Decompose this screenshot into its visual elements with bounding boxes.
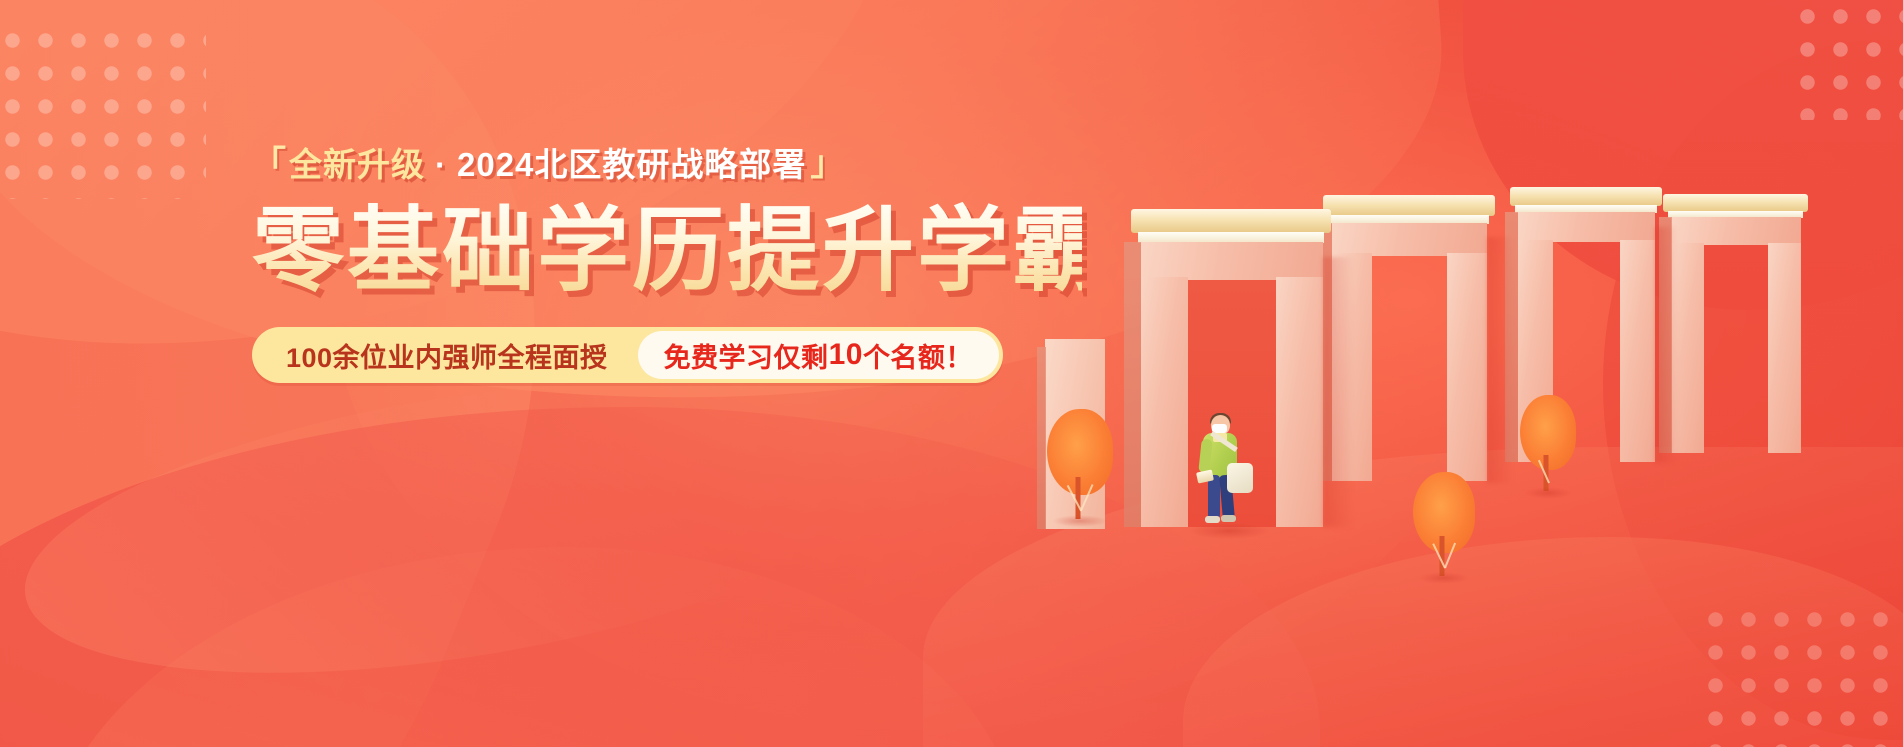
banner-highlight-pill: 100余位业内强师全程面授 免费学习仅剩 10 个名额！ [252, 327, 1003, 383]
pill-quota-badge: 免费学习仅剩 10 个名额！ [638, 331, 999, 379]
tree-shadow-far-right [1524, 487, 1571, 499]
banner-kicker: 「 全新升级 · 2024北区教研战略部署 」 [252, 140, 1082, 188]
tree-icon-left [1047, 409, 1113, 519]
dot-grid-icon-top-left [0, 24, 206, 199]
pill-quota-prefix: 免费学习仅剩 [664, 336, 829, 375]
pill-quota-suffix: 个名额！ [863, 336, 973, 375]
dot-grid-icon-top-right [1791, 0, 1903, 120]
pill-quota-number: 10 [829, 338, 863, 372]
background-light-streak [5, 330, 915, 724]
person-ground-shadow [1189, 523, 1269, 539]
tree-shadow-left [1052, 515, 1107, 527]
tree-icon-far-right [1520, 395, 1576, 491]
tree-trunk-left [1076, 477, 1081, 519]
kicker-rest: 2024北区教研战略部署 [457, 148, 806, 181]
kicker-separator-dot: · [435, 148, 447, 181]
person-shoe-left-icon [1205, 516, 1220, 523]
person-shoe-right-icon [1221, 515, 1236, 522]
tree-icon-right [1413, 472, 1475, 576]
promo-banner: 「 全新升级 · 2024北区教研战略部署 」 零基础学历提升学霸班 100余位… [0, 0, 1903, 747]
kicker-bracket-close: 」 [810, 147, 845, 181]
person-bag-icon [1227, 463, 1253, 493]
illustration-hill [1183, 537, 1903, 747]
pill-teachers-label: 100余位业内强师全程面授 [252, 327, 638, 383]
kicker-highlight: 全新升级 [289, 148, 425, 181]
background-blob-bottom-light [40, 547, 1020, 747]
banner-text-block: 「 全新升级 · 2024北区教研战略部署 」 零基础学历提升学霸班 100余位… [252, 140, 1082, 383]
tree-shadow-right [1418, 572, 1470, 584]
person-leg-left-icon [1208, 475, 1220, 519]
banner-headline: 零基础学历提升学霸班 [252, 202, 1082, 301]
kicker-bracket-open: 「 [252, 147, 287, 181]
